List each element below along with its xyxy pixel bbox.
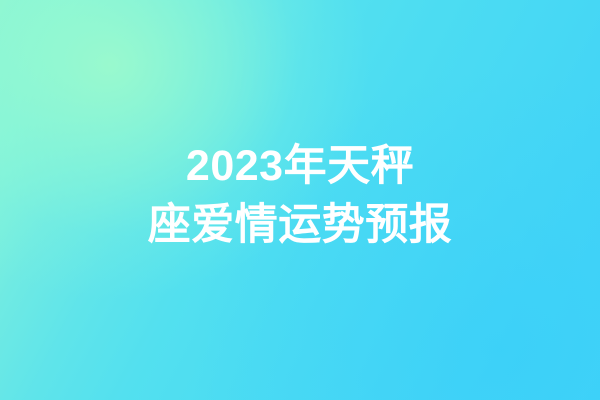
title-line-1: 2023年天秤 [148,137,453,196]
title-banner: 2023年天秤 座爱情运势预报 [0,0,600,400]
title-line-2: 座爱情运势预报 [148,196,453,255]
page-title: 2023年天秤 座爱情运势预报 [148,137,453,263]
